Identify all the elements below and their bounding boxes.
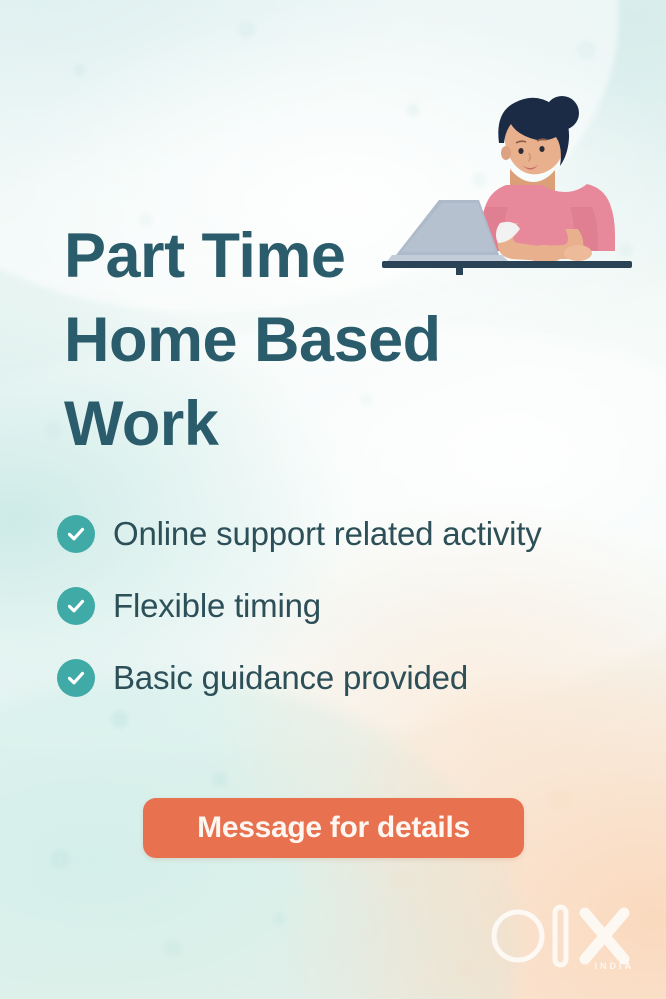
advertisement-poster: Part Time Home Based Work xyxy=(0,0,666,999)
woman-working-on-laptop-illustration xyxy=(382,95,632,275)
list-item: Online support related activity xyxy=(57,498,617,570)
list-item: Flexible timing xyxy=(57,570,617,642)
olx-letter-l xyxy=(555,907,566,965)
eye-right xyxy=(539,146,544,152)
list-item: Basic guidance provided xyxy=(57,642,617,714)
feature-label: Basic guidance provided xyxy=(113,659,468,697)
olx-letter-x xyxy=(585,913,624,959)
check-circle-icon xyxy=(57,659,95,697)
feature-label: Online support related activity xyxy=(113,515,542,553)
desk-top xyxy=(382,261,632,268)
feature-label: Flexible timing xyxy=(113,587,321,625)
check-circle-icon xyxy=(57,515,95,553)
check-circle-icon xyxy=(57,587,95,625)
eye-left xyxy=(518,148,523,154)
hand-right xyxy=(564,245,592,261)
desk-leg xyxy=(456,268,463,275)
hand-left xyxy=(527,245,563,263)
olx-watermark-subtitle: INDIA xyxy=(595,961,635,971)
feature-list: Online support related activity Flexible… xyxy=(57,498,617,714)
message-for-details-button[interactable]: Message for details xyxy=(143,798,524,858)
